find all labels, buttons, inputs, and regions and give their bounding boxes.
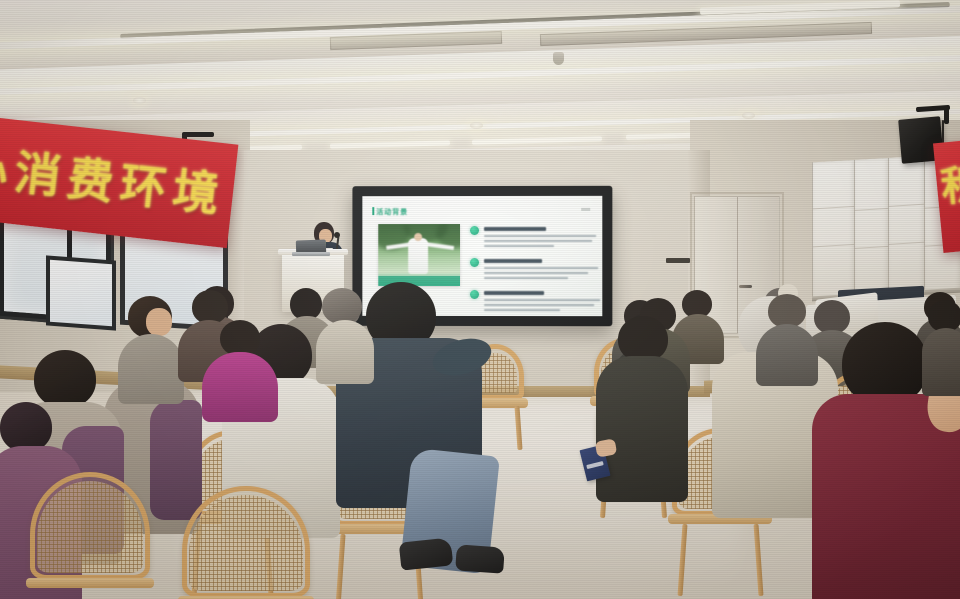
audience-person: [596, 316, 688, 496]
audience-person: [316, 288, 374, 380]
dome-camera-icon: [553, 52, 564, 65]
microphone-head-icon: [334, 232, 340, 238]
brochure-band: [586, 461, 603, 469]
face: [146, 308, 172, 336]
audience-person: [756, 290, 818, 382]
audience-person: [118, 296, 184, 400]
audience-person: [202, 320, 278, 416]
shade-panel[interactable]: [854, 158, 889, 298]
laptop-base: [292, 252, 330, 256]
recessed-downlight: [133, 97, 146, 104]
speaker-bracket: [944, 106, 949, 124]
shoe: [399, 537, 454, 570]
audience-person: [922, 300, 960, 392]
wall-trim: [666, 258, 690, 263]
slide-page-indicator: [581, 208, 590, 211]
slide-photo-figure: [408, 238, 428, 274]
door-handle-icon[interactable]: [739, 285, 752, 288]
room-photo-scene: 心消费环境 积 活动背景: [0, 0, 960, 599]
shoe: [455, 544, 505, 573]
slide-photo: [378, 224, 460, 286]
slide-bullet-number: [470, 226, 479, 235]
shade-panel[interactable]: [812, 160, 855, 301]
recessed-downlight: [470, 122, 483, 129]
left-window-lower: [46, 255, 116, 330]
speaker-bracket: [184, 132, 214, 137]
slide-bullet-number: [470, 258, 479, 267]
chair[interactable]: [182, 486, 310, 598]
slide-title: 活动背景: [376, 207, 408, 217]
chair[interactable]: [30, 472, 150, 580]
recessed-downlight: [742, 112, 755, 119]
window-glass: [50, 260, 112, 327]
slide-title-accent: [372, 207, 374, 215]
shade-panel[interactable]: [888, 156, 925, 296]
left-banner-text: 心消费环境: [0, 130, 230, 225]
right-banner-text: 积: [938, 151, 960, 213]
